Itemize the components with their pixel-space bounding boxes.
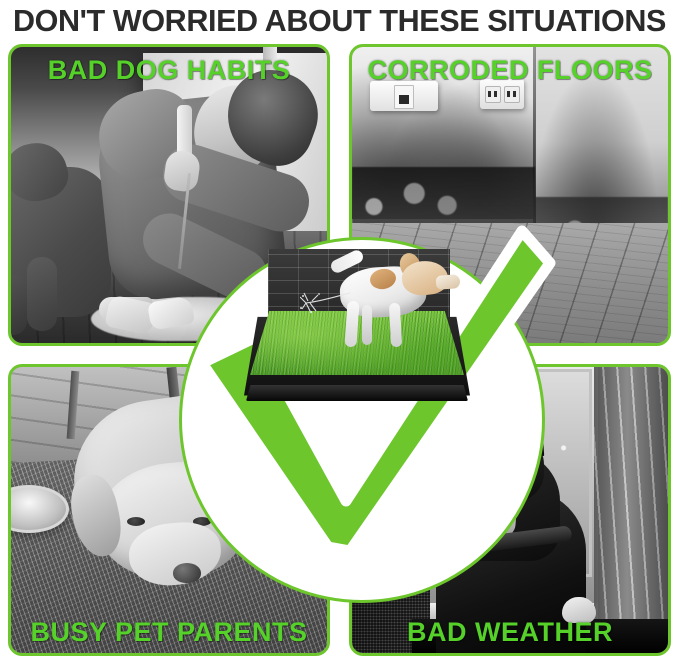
product-feature-graphic: DON'T WORRIED ABOUT THESE SITUATIONS bbox=[0, 0, 679, 664]
power-outlet-icon bbox=[480, 79, 524, 109]
product-image-potty-pad[interactable] bbox=[244, 249, 470, 415]
page-title: DON'T WORRIED ABOUT THESE SITUATIONS bbox=[5, 0, 674, 40]
light-switch-icon bbox=[370, 81, 438, 111]
